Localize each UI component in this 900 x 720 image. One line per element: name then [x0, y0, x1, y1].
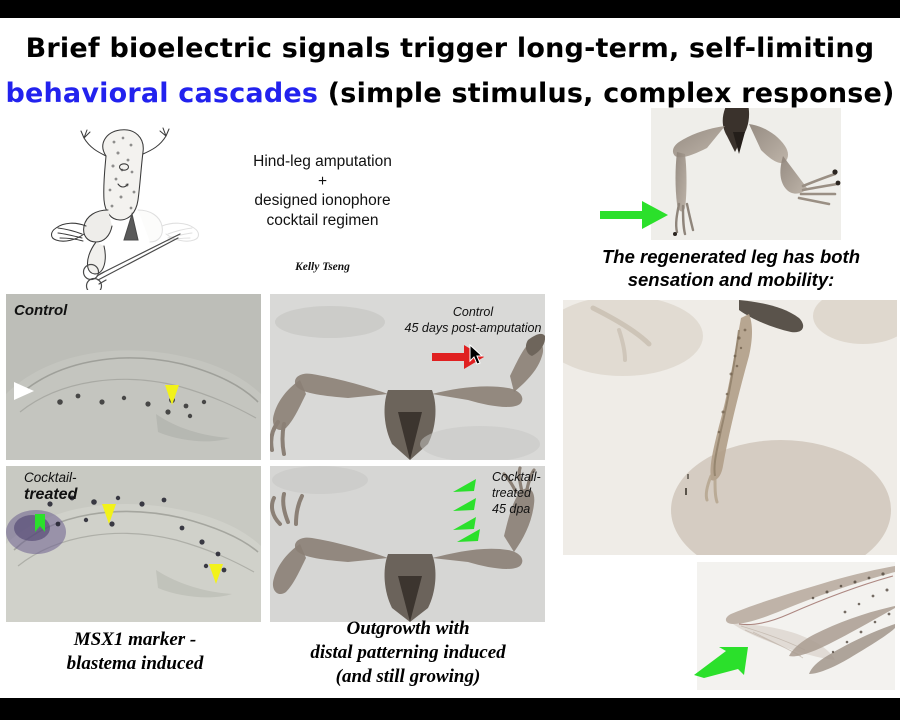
green-arrowhead-treated	[32, 512, 48, 534]
yellow-arrowhead-control-1	[163, 383, 181, 407]
caption-msx1: MSX1 marker - blastema induced	[10, 628, 260, 676]
treatment-line-3: designed ionophore	[205, 191, 440, 211]
right-caption-line-2: sensation and mobility:	[565, 268, 897, 291]
green-arrow-foot-webbing	[692, 645, 750, 679]
frog-amputation-drawing	[28, 122, 218, 290]
title-line-2: behavioral cascades (simple stimulus, co…	[0, 71, 900, 116]
author-credit: Kelly Tseng	[205, 261, 440, 273]
regenerated-leg-caption: The regenerated leg has both sensation a…	[565, 245, 897, 291]
caption-msx1-line-2: blastema induced	[10, 652, 260, 676]
white-arrowhead-control	[12, 380, 36, 402]
slide-canvas: Brief bioelectric signals trigger long-t…	[0, 0, 900, 720]
mouse-cursor	[469, 344, 485, 366]
yellow-arrowhead-treated-2	[207, 562, 225, 586]
green-arrowhead-outgrowth-4	[456, 528, 482, 544]
caption-msx1-line-1: MSX1 marker -	[10, 628, 260, 652]
green-arrowhead-outgrowth-1	[452, 478, 478, 494]
label-outgrowth-treated-line-2: treated	[492, 486, 531, 500]
caption-outgrowth-line-1: Outgrowth with	[268, 617, 548, 641]
treatment-line-2: +	[205, 172, 440, 192]
title-line-1: Brief bioelectric signals trigger long-t…	[0, 26, 900, 71]
label-outgrowth-treated-line-3: 45 dpa	[492, 502, 530, 516]
slide-title: Brief bioelectric signals trigger long-t…	[0, 26, 900, 116]
caption-outgrowth-line-2: distal patterning induced	[268, 641, 548, 665]
treatment-line-1: Hind-leg amputation	[205, 152, 440, 172]
letterbox-top	[0, 0, 900, 18]
label-outgrowth-control-line-1: Control	[402, 305, 544, 319]
green-arrow-froglet	[598, 198, 670, 232]
froglet-photo-content	[651, 108, 841, 240]
green-arrowhead-outgrowth-2	[452, 497, 478, 513]
treatment-line-4: cocktail regimen	[205, 211, 440, 231]
title-highlight: behavioral cascades	[5, 78, 318, 109]
caption-outgrowth: Outgrowth with distal patterning induced…	[268, 617, 548, 689]
letterbox-bottom	[0, 698, 900, 720]
right-caption-line-1: The regenerated leg has both	[565, 245, 897, 268]
label-msx1-control: Control	[14, 302, 67, 319]
regenerated-leg-video-still	[563, 300, 897, 555]
label-msx1-treated-line-2: treated	[24, 486, 77, 504]
caption-outgrowth-line-3: (and still growing)	[268, 665, 548, 689]
label-msx1-treated-line-1: Cocktail-	[24, 470, 77, 485]
video-still-content	[563, 300, 897, 555]
treatment-description: Hind-leg amputation + designed ionophore…	[205, 152, 440, 230]
title-line-2-rest: (simple stimulus, complex response)	[318, 78, 894, 109]
label-outgrowth-control-line-2: 45 days post-amputation	[402, 321, 544, 335]
label-outgrowth-treated-line-1: Cocktail-	[492, 470, 541, 484]
froglet-hindlegs-photo	[651, 108, 841, 240]
yellow-arrowhead-treated-1	[100, 502, 118, 526]
